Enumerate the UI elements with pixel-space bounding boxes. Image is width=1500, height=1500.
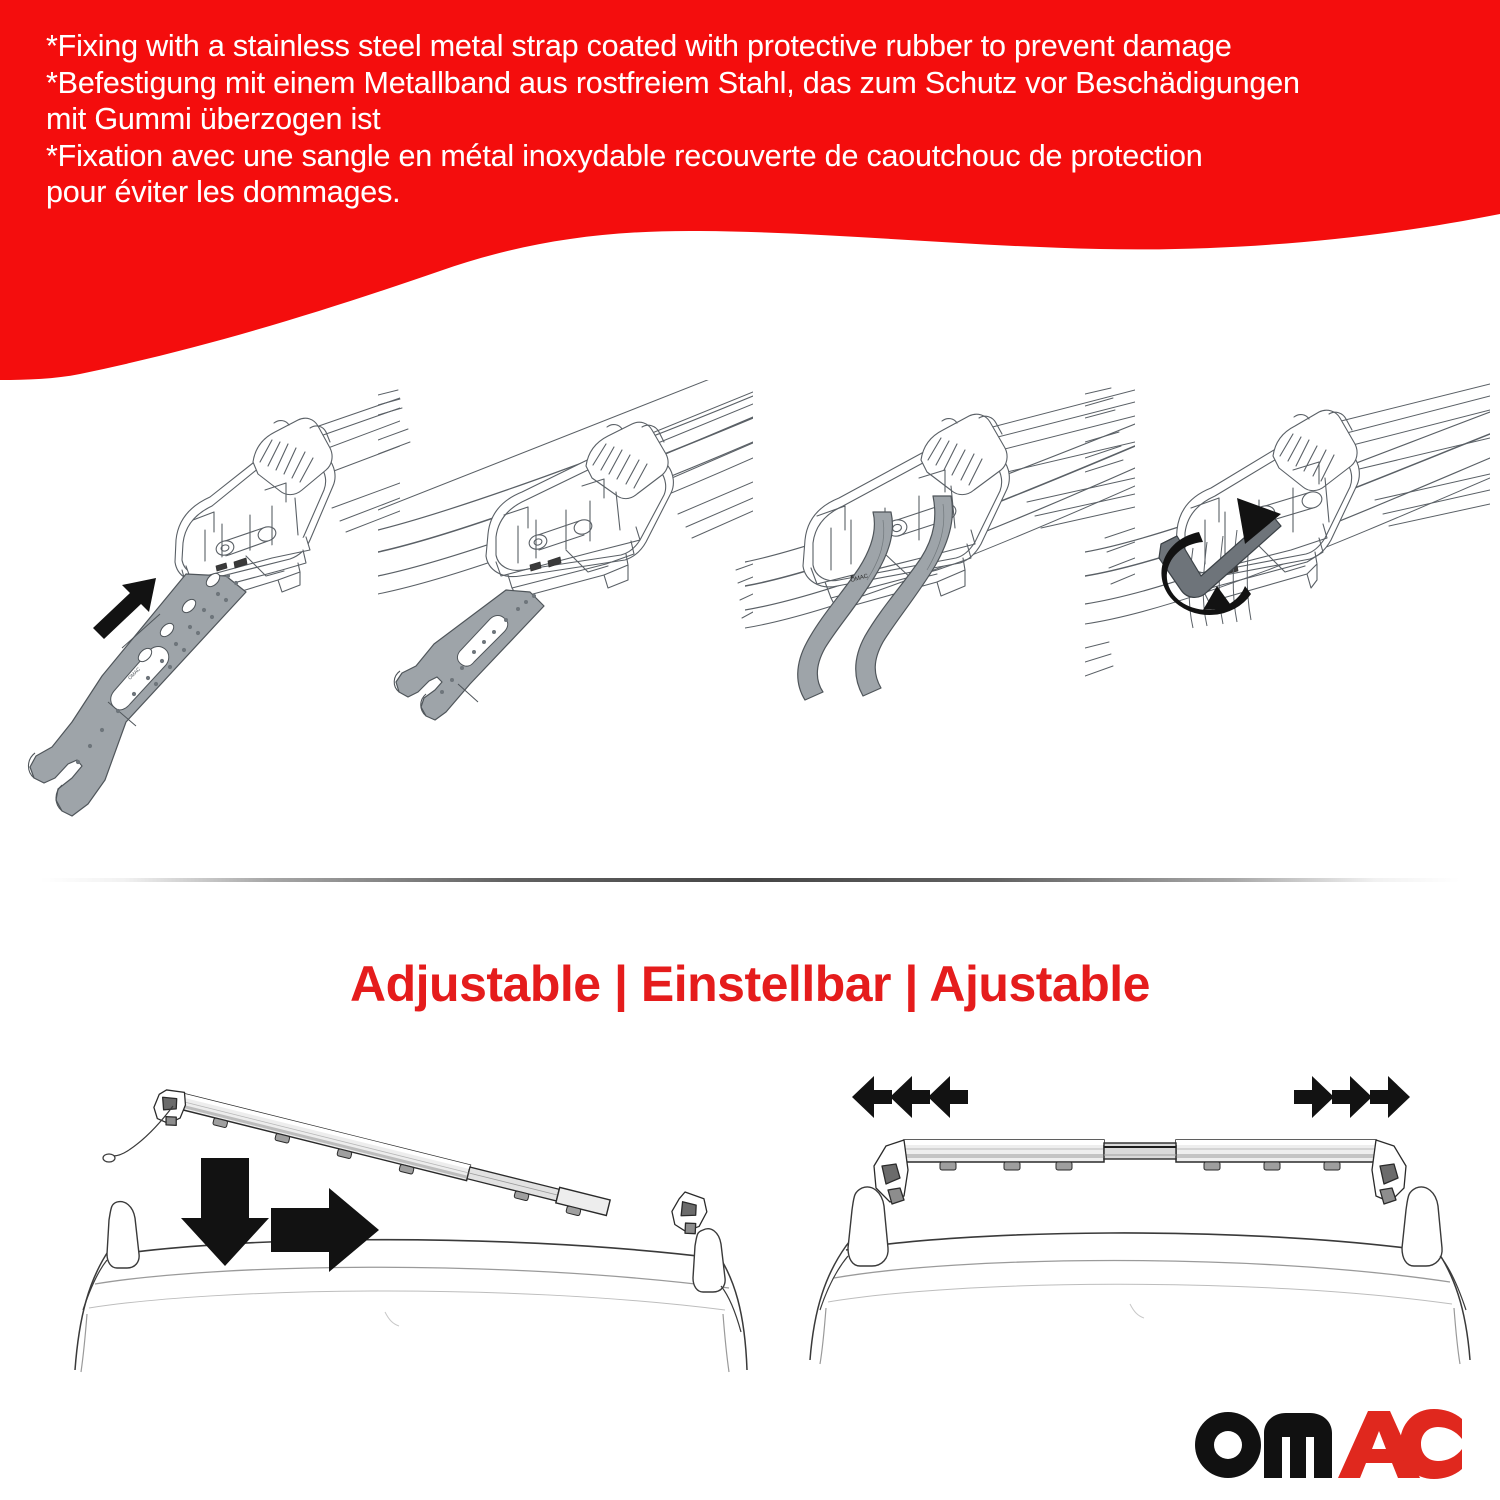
banner-description-text: *Fixing with a stainless steel metal str… [46,28,1466,211]
triple-left-arrow-icon [852,1076,968,1118]
illustration-step-1-insert-strap: OMAC [10,380,400,850]
adjustable-diagrams [0,1070,1500,1390]
adjustable-heading: Adjustable | Einstellbar | Ajustable [0,955,1500,1013]
right-arrow-icon [271,1188,379,1272]
logo-letter-o [1195,1412,1261,1478]
omac-wordmark [1192,1407,1462,1479]
down-arrow-icon [181,1158,269,1266]
diagram-crossbar-width-adjust [800,1070,1480,1390]
section-divider [40,878,1460,882]
triple-right-arrow-icon [1294,1076,1410,1118]
installation-steps-illustrations: OMAC [0,380,1500,860]
logo-letter-m [1264,1413,1332,1478]
logo-letter-c [1400,1409,1462,1479]
illustration-step-4-tighten-allen-key [1085,380,1490,850]
illustration-step-2-foot-on-rail [378,380,753,850]
omac-logo [1192,1408,1462,1478]
illustration-step-3-strap-wrapped: OMAC [745,380,1135,850]
red-header-banner: *Fixing with a stainless steel metal str… [0,0,1500,380]
diagram-crossbar-lowering [55,1070,775,1390]
